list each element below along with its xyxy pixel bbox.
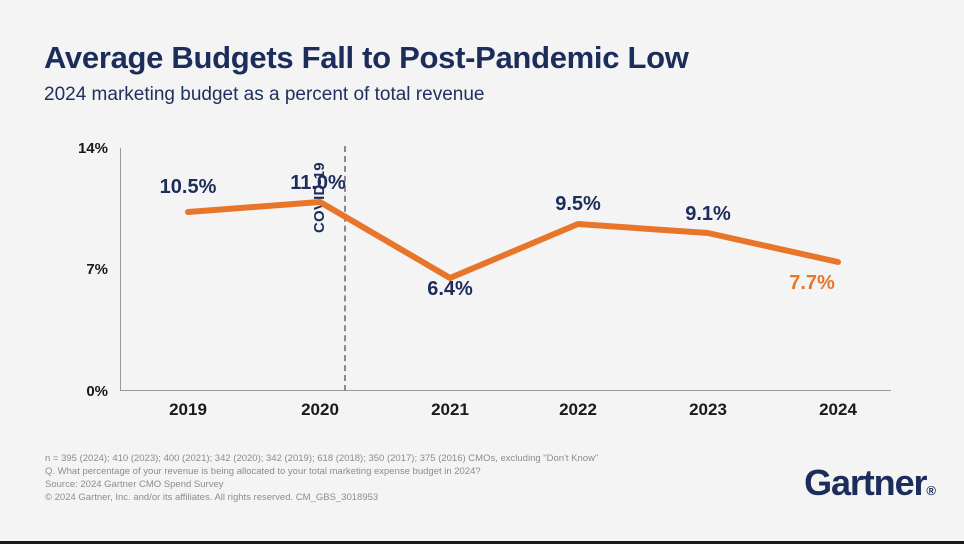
x-axis-line <box>120 390 891 391</box>
footnote-question: Q. What percentage of your revenue is be… <box>45 465 598 478</box>
data-label-2024: 7.7% <box>772 272 852 295</box>
y-tick-label-0: 0% <box>86 383 108 400</box>
chart-page: Average Budgets Fall to Post-Pandemic Lo… <box>0 0 964 544</box>
footnotes: n = 395 (2024); 410 (2023); 400 (2021); … <box>45 452 598 504</box>
x-tick-2020: 2020 <box>275 400 365 420</box>
gartner-logo-text: Gartner <box>804 462 926 503</box>
x-tick-2021: 2021 <box>405 400 495 420</box>
data-label-2021: 6.4% <box>410 278 490 301</box>
y-tick-label-14: 14% <box>78 140 108 157</box>
gartner-logo: Gartner® <box>804 462 936 504</box>
data-label-2020: 11.0% <box>278 172 358 195</box>
registered-trademark-icon: ® <box>926 483 936 498</box>
x-tick-2022: 2022 <box>533 400 623 420</box>
data-label-2019: 10.5% <box>148 176 228 199</box>
footnote-sample-size: n = 395 (2024); 410 (2023); 400 (2021); … <box>45 452 598 465</box>
footnote-source: Source: 2024 Gartner CMO Spend Survey <box>45 478 598 491</box>
y-axis-line <box>120 148 121 391</box>
y-tick-label-7: 7% <box>86 261 108 278</box>
data-label-2022: 9.5% <box>538 193 618 216</box>
data-label-2023: 9.1% <box>668 203 748 226</box>
x-tick-2019: 2019 <box>143 400 233 420</box>
x-tick-2023: 2023 <box>663 400 753 420</box>
footnote-copyright: © 2024 Gartner, Inc. and/or its affiliat… <box>45 491 598 504</box>
x-tick-2024: 2024 <box>793 400 883 420</box>
